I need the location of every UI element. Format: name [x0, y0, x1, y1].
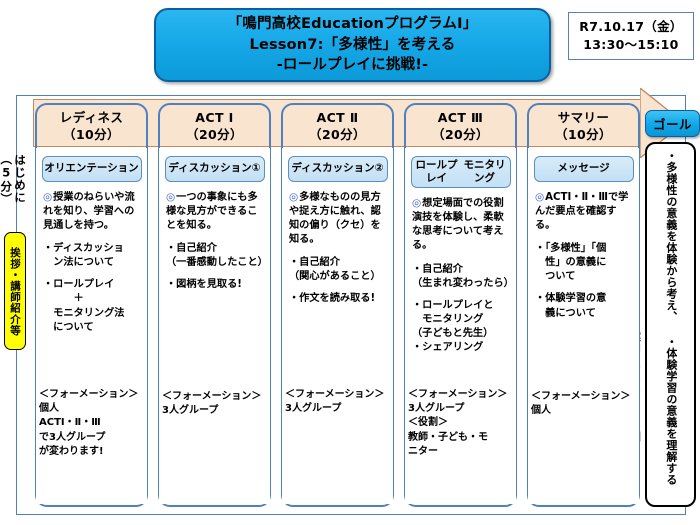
phase-duration: （20分）	[186, 126, 243, 143]
title-banner: 「鳴門高校EducationプログラムⅠ」 Lesson7:「多様性」を考える …	[154, 8, 551, 82]
activity-bullets-2: ・自己紹介 （一番感動したこと）・図柄を見取る!	[166, 242, 264, 292]
bullet-item: ・自己紹介 （関心があること）	[289, 256, 387, 284]
activity-subhead-2[interactable]: ディスカッション①	[165, 156, 265, 182]
activity-bullets-1: ・ディスカッショ ン法について・ロールプレイ ＋ モニタリング法 について	[43, 242, 141, 334]
bullet-item: ・ディスカッショ ン法について	[43, 242, 141, 270]
phase-header-3: ACT Ⅱ（20分）	[281, 106, 394, 146]
phase-body-5: メッセージ◎ACTⅠ・Ⅱ・Ⅲで学んだ要点を確認する。・「多様性」「個 性」の意義…	[528, 148, 639, 504]
activity-subhead-1[interactable]: オリエンテーション	[42, 156, 142, 182]
bullet-item: ・作文を読み取る!	[289, 292, 387, 306]
activity-aim-5: ◎ACTⅠ・Ⅱ・Ⅲで学んだ要点を確認する。	[535, 190, 633, 233]
aim-marker-icon: ◎	[166, 191, 175, 203]
activity-bullets-5: ・「多様性」「個 性」の意義に ついて・体験学習の意 義について	[535, 242, 633, 320]
phase-duration: （10分）	[63, 126, 120, 143]
activity-bullets-3: ・自己紹介 （関心があること）・作文を読み取る!	[289, 256, 387, 306]
formation-note-3: ＜フォーメーション＞ 3人グループ	[285, 388, 391, 416]
activity-subhead-4[interactable]: ロールプレイモニタリング	[411, 156, 511, 188]
aim-marker-icon: ◎	[289, 191, 298, 203]
date-label: R7.10.17（金）	[579, 18, 682, 36]
goal-pill: ゴール	[645, 110, 700, 137]
date-time-box: R7.10.17（金） 13:30～15:10	[568, 12, 694, 60]
title-line-2: Lesson7:「多様性」を考える	[250, 35, 456, 56]
activity-aim-1: ◎授業のねらいや流れを知り、学習への見通しを持つ。	[43, 190, 141, 233]
phase-duration: （20分）	[309, 126, 366, 143]
phase-duration: （20分）	[432, 126, 489, 143]
formation-note-1: ＜フォーメーション＞ 個人 ACTⅠ・Ⅱ・Ⅲ で3人グループ が変わります!	[39, 388, 145, 459]
bullet-item: ・自己紹介 （一番感動したこと）	[166, 242, 264, 270]
bullet-item: ・ロールプレイ ＋ モニタリング法 について	[43, 278, 141, 334]
lesson-plan-diagram: 「鳴門高校EducationプログラムⅠ」 Lesson7:「多様性」を考える …	[0, 0, 700, 525]
intro-activity-tag: 挨拶・講師紹介等	[4, 232, 26, 350]
activity-aim-3: ◎多様なものの見方や捉え方に触れ、認知の偏り（クセ）を知る。	[289, 190, 387, 247]
phase-header-5: サマリー（10分）	[527, 106, 640, 146]
phase-body-2: ディスカッション①◎一つの事象にも多様な見方ができることを知る。・自己紹介 （一…	[159, 148, 270, 504]
activity-aim-2: ◎一つの事象にも多様な見方ができることを知る。	[166, 190, 264, 233]
bullet-item: ・図柄を見取る!	[166, 278, 264, 292]
activity-aim-4: ◎想定場面での役割演技を体験し、柔軟な思考について考える。	[412, 196, 510, 253]
intro-phase-label: はじめに （5分）	[2, 140, 26, 218]
goal-text: ・多様性の意義を体験から考え、 ・体験学習の意義を理解する	[663, 150, 678, 490]
phase-body-3: ディスカッション②◎多様なものの見方や捉え方に触れ、認知の偏り（クセ）を知る。・…	[282, 148, 393, 504]
phase-name: ACT Ⅱ	[317, 109, 359, 126]
bullet-item: ・自己紹介 （生まれ変わったら）	[412, 263, 510, 291]
phase-name: ACT Ⅰ	[195, 109, 233, 126]
activity-bullets-4: ・自己紹介 （生まれ変わったら）・ロールプレイと モニタリング （子どもと先生）…	[412, 263, 510, 355]
phase-header-1: レディネス（10分）	[35, 106, 148, 146]
phase-name: ACT Ⅲ	[438, 109, 484, 126]
title-line-1: 「鳴門高校EducationプログラムⅠ」	[228, 14, 478, 35]
bullet-item: ・「多様性」「個 性」の意義に ついて	[535, 242, 633, 284]
phase-header-2: ACT Ⅰ（20分）	[158, 106, 271, 146]
bullet-item: ・体験学習の意 義について	[535, 292, 633, 320]
goal-box: ・多様性の意義を体験から考え、 ・体験学習の意義を理解する	[645, 142, 696, 507]
activity-subhead-3[interactable]: ディスカッション②	[288, 156, 388, 182]
time-label: 13:30～15:10	[583, 36, 678, 54]
phase-name: サマリー	[558, 109, 610, 126]
aim-marker-icon: ◎	[43, 191, 52, 203]
phase-name: レディネス	[60, 109, 124, 126]
phase-duration: （10分）	[555, 126, 612, 143]
formation-note-5: ＜フォーメーション＞ 個人	[531, 390, 637, 418]
formation-note-2: ＜フォーメーション＞ 3人グループ	[162, 390, 268, 418]
title-line-3: -ロールプレイに挑戦!-	[277, 55, 429, 76]
phase-header-4: ACT Ⅲ（20分）	[404, 106, 517, 146]
aim-marker-icon: ◎	[535, 191, 544, 203]
bullet-item: ・ロールプレイと モニタリング （子どもと先生） ・シェアリング	[412, 299, 510, 355]
formation-note-4: ＜フォーメーション＞ 3人グループ ＜役割＞ 教師・子ども・モ ニター	[408, 388, 514, 459]
activity-subhead-5[interactable]: メッセージ	[534, 156, 634, 182]
aim-marker-icon: ◎	[412, 197, 421, 209]
